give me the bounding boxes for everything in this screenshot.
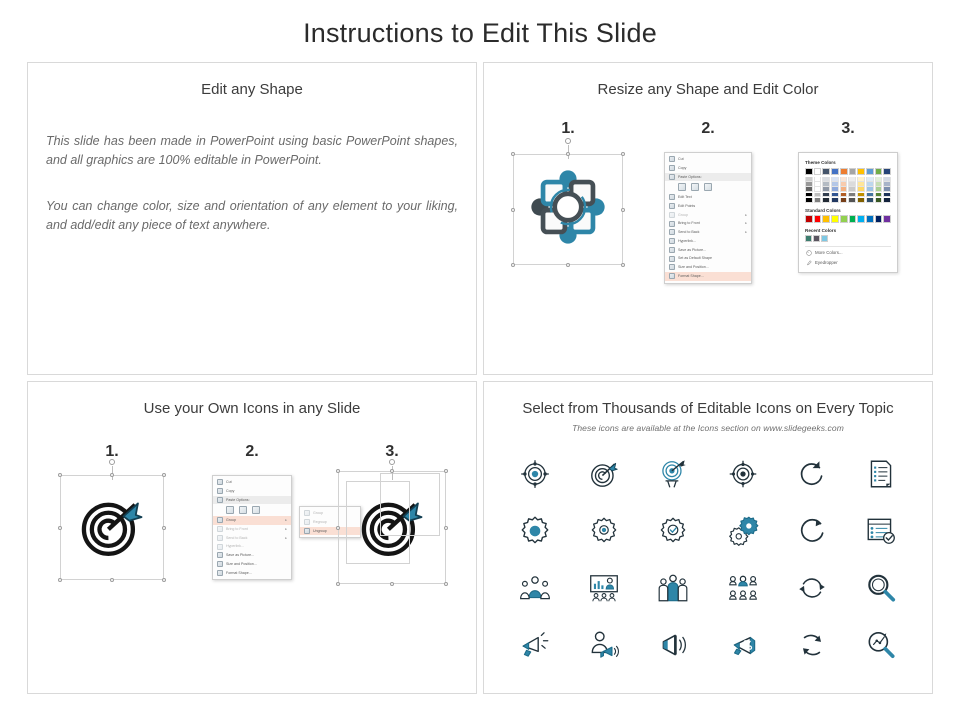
theme-swatch-8[interactable]	[875, 168, 883, 176]
menu-item-cut[interactable]: Cut	[665, 155, 751, 164]
menu-item-label: Hyperlink...	[678, 239, 696, 243]
theme-shade-9-3[interactable]	[883, 193, 891, 198]
theme-shade-col-6[interactable]	[857, 177, 865, 203]
handle-ml[interactable]	[511, 208, 515, 212]
theme-shade-1-3[interactable]	[814, 193, 822, 198]
grouped-target-icon[interactable]	[76, 489, 148, 566]
theme-shade-3-2[interactable]	[831, 187, 839, 192]
panel-title-icon-library: Select from Thousands of Editable Icons …	[484, 382, 932, 417]
handle-mr[interactable]	[621, 208, 625, 212]
standard-swatch-0[interactable]	[805, 215, 813, 223]
menu-item-icon	[217, 561, 223, 567]
theme-shade-1-1[interactable]	[814, 182, 822, 187]
theme-swatch-3[interactable]	[831, 168, 839, 176]
menu-item-hyperlink[interactable]: Hyperlink...	[665, 237, 751, 246]
theme-shade-col-0[interactable]	[805, 177, 813, 203]
theme-shade-7-1[interactable]	[866, 182, 874, 187]
team-structure-icon[interactable]	[710, 561, 775, 614]
menu-item-icon	[669, 273, 675, 279]
menu-item-icon	[217, 570, 223, 576]
menu-item-bring-to-front[interactable]: Bring to Front▸	[213, 525, 291, 534]
body-paragraph-1: This slide has been made in PowerPoint u…	[46, 132, 458, 171]
chevron-right-icon: ▸	[285, 536, 287, 540]
standard-swatch-5[interactable]	[849, 215, 857, 223]
document-check-icon[interactable]	[849, 504, 914, 557]
paste-text-only-icon[interactable]	[704, 183, 712, 191]
handle-br[interactable]	[621, 263, 625, 267]
theme-shade-1-2[interactable]	[814, 187, 822, 192]
menu-item-icon	[217, 488, 223, 494]
gear-check-icon[interactable]	[641, 504, 706, 557]
standard-colors-row[interactable]	[805, 215, 891, 223]
theme-swatch-0[interactable]	[805, 168, 813, 176]
paste-keep-formatting-icon[interactable]	[678, 183, 686, 191]
menu-item-icon	[669, 174, 675, 180]
rotate-handle-ungrouped[interactable]	[389, 459, 395, 465]
menu-item-set-as-default-shape[interactable]: Set as Default Shape	[665, 254, 751, 263]
menu-item-save-as-picture[interactable]: Save as Picture...	[665, 246, 751, 255]
menu-item-icon	[669, 256, 675, 262]
menu-item-icon	[669, 264, 675, 270]
standard-swatch-8[interactable]	[875, 215, 883, 223]
eyedropper-item[interactable]: Eyedropper	[805, 258, 891, 268]
menu-item-label: Ungroup	[313, 529, 327, 533]
page-title: Instructions to Edit This Slide	[0, 0, 960, 49]
handle-bm[interactable]	[566, 263, 570, 267]
selected-shape-icon[interactable]	[529, 168, 607, 251]
megaphone-percent-icon[interactable]	[710, 618, 775, 671]
refresh-arrow-icon[interactable]	[779, 447, 844, 500]
resize-step-1: 1.	[503, 120, 633, 302]
context-menu[interactable]: CutCopyPaste Options:Edit TextEdit Point…	[664, 152, 752, 284]
theme-shade-6-1[interactable]	[857, 182, 865, 187]
menu-item-size-and-position[interactable]: Size and Position...	[665, 263, 751, 272]
chevron-right-icon: ▸	[285, 527, 287, 531]
menu-item-bring-to-front[interactable]: Bring to Front▸	[665, 219, 751, 228]
panel-title-resize-shape: Resize any Shape and Edit Color	[484, 63, 932, 98]
resize-step-2: 2. CutCopyPaste Options:Edit TextEdit Po…	[643, 120, 773, 302]
menu-item-label: Regroup	[313, 520, 327, 524]
theme-shade-col-5[interactable]	[848, 177, 856, 203]
standard-swatch-2[interactable]	[822, 215, 830, 223]
own-step-art-3	[327, 475, 457, 625]
handle-g-bm[interactable]	[110, 578, 114, 582]
edit-shape-body: This slide has been made in PowerPoint u…	[28, 98, 476, 236]
handle-u-mr[interactable]	[444, 526, 448, 530]
handle-g-tr[interactable]	[162, 473, 166, 477]
theme-shade-2-2[interactable]	[822, 187, 830, 192]
paste-picture-icon[interactable]	[691, 183, 699, 191]
theme-shade-4-0[interactable]	[840, 177, 848, 182]
theme-shade-col-7[interactable]	[866, 177, 874, 203]
person-megaphone-icon[interactable]	[571, 618, 636, 671]
theme-shade-5-2[interactable]	[848, 187, 856, 192]
theme-shade-7-4[interactable]	[866, 198, 874, 203]
theme-shade-2-4[interactable]	[822, 198, 830, 203]
panel-resize-shape: Resize any Shape and Edit Color 1.	[483, 62, 933, 375]
menu-item-icon	[669, 238, 675, 244]
panel-grid: Edit any Shape This slide has been made …	[27, 62, 933, 690]
theme-swatch-5[interactable]	[849, 168, 857, 176]
menu-item-save-as-picture[interactable]: Save as Picture...	[213, 551, 291, 560]
theme-shade-2-3[interactable]	[822, 193, 830, 198]
resize-steps: 1.	[484, 98, 932, 302]
speaker-announce-icon[interactable]	[641, 618, 706, 671]
selection-box-part-b	[380, 473, 440, 536]
theme-shade-7-2[interactable]	[866, 187, 874, 192]
theme-shade-3-0[interactable]	[831, 177, 839, 182]
double-gear-icon[interactable]	[710, 504, 775, 557]
own-icons-step-2: 2. CutCopyPaste Options:Group▸Bring to F…	[187, 443, 317, 625]
menu-item-label: Save as Picture...	[226, 553, 254, 557]
panel-edit-any-shape: Edit any Shape This slide has been made …	[27, 62, 477, 375]
theme-shade-1-0[interactable]	[814, 177, 822, 182]
color-picker-divider	[805, 246, 891, 247]
people-group-icon[interactable]	[502, 561, 567, 614]
theme-shade-0-1[interactable]	[805, 182, 813, 187]
menu-item-label: Size and Position...	[226, 562, 257, 566]
standard-swatch-4[interactable]	[840, 215, 848, 223]
handle-u-br[interactable]	[444, 582, 448, 586]
theme-shade-2-1[interactable]	[822, 182, 830, 187]
circular-arrow-icon[interactable]	[779, 504, 844, 557]
theme-shade-9-0[interactable]	[883, 177, 891, 182]
menu-item-icon	[304, 519, 310, 525]
theme-colors-row[interactable]	[805, 168, 891, 176]
theme-shade-4-1[interactable]	[840, 182, 848, 187]
more-colors-item[interactable]: More Colors...	[805, 248, 891, 258]
panel-icon-library: Select from Thousands of Editable Icons …	[483, 381, 933, 694]
theme-shade-col-8[interactable]	[875, 177, 883, 203]
theme-shade-7-0[interactable]	[866, 177, 874, 182]
theme-shade-6-2[interactable]	[857, 187, 865, 192]
handle-u-tl[interactable]	[336, 469, 340, 473]
standard-swatch-9[interactable]	[883, 215, 891, 223]
menu-item-edit-points[interactable]: Edit Points	[665, 202, 751, 211]
theme-shade-0-0[interactable]	[805, 177, 813, 182]
handle-tm[interactable]	[566, 152, 570, 156]
theme-shade-0-4[interactable]	[805, 198, 813, 203]
team-three-icon[interactable]	[641, 561, 706, 614]
slide-root: Instructions to Edit This Slide Edit any…	[0, 0, 960, 720]
handle-tr[interactable]	[621, 152, 625, 156]
menu-item-icon	[217, 497, 223, 503]
theme-shade-9-4[interactable]	[883, 198, 891, 203]
theme-swatch-1[interactable]	[814, 168, 822, 176]
theme-shade-col-9[interactable]	[883, 177, 891, 203]
step-number-1: 1.	[503, 120, 633, 138]
menu-item-cut[interactable]: Cut	[213, 478, 291, 487]
step-art-3: Theme Colors Standard Colors Recent Colo…	[783, 152, 913, 302]
menu-item-format-shape[interactable]: Format Shape...	[213, 569, 291, 578]
standard-swatch-6[interactable]	[857, 215, 865, 223]
step-number-3: 3.	[783, 120, 913, 138]
theme-shade-8-1[interactable]	[875, 182, 883, 187]
gear-dot-icon[interactable]	[571, 504, 636, 557]
menu-item-label: Hyperlink...	[226, 544, 244, 548]
theme-swatch-7[interactable]	[866, 168, 874, 176]
group-context-menu[interactable]: CutCopyPaste Options:Group▸Bring to Fron…	[212, 475, 292, 580]
own-step-number-2: 2.	[187, 443, 317, 461]
handle-g-bl[interactable]	[58, 578, 62, 582]
paste-keep-formatting-icon[interactable]	[226, 506, 234, 514]
theme-shade-3-4[interactable]	[831, 198, 839, 203]
theme-shade-3-1[interactable]	[831, 182, 839, 187]
handle-bl[interactable]	[511, 263, 515, 267]
paste-option-icons[interactable]	[213, 504, 291, 516]
theme-shade-9-1[interactable]	[883, 182, 891, 187]
menu-item-label: Copy	[226, 489, 234, 493]
standard-colors-label: Standard Colors	[805, 208, 891, 213]
body-paragraph-2: You can change color, size and orientati…	[46, 197, 458, 236]
theme-shade-0-2[interactable]	[805, 187, 813, 192]
step-number-2: 2.	[643, 120, 773, 138]
theme-shade-6-0[interactable]	[857, 177, 865, 182]
own-step-art-1	[47, 475, 177, 625]
menu-item-group[interactable]: Group▸	[213, 516, 291, 525]
ungrouped-target-icon[interactable]	[356, 489, 428, 566]
theme-shade-col-1[interactable]	[814, 177, 822, 203]
menu-item-label: Bring to Front	[226, 527, 248, 531]
theme-shade-5-1[interactable]	[848, 182, 856, 187]
more-colors-label: More Colors...	[815, 250, 843, 255]
theme-shade-6-4[interactable]	[857, 198, 865, 203]
chevron-right-icon: ▸	[745, 213, 747, 217]
menu-item-icon	[669, 165, 675, 171]
theme-shade-2-0[interactable]	[822, 177, 830, 182]
menu-item-icon	[304, 510, 310, 516]
target-stand-icon[interactable]	[641, 447, 706, 500]
recent-swatch-0[interactable]	[805, 235, 812, 242]
theme-shade-1-4[interactable]	[814, 198, 822, 203]
handle-g-tm[interactable]	[110, 473, 114, 477]
menu-item-label: Paste Options:	[678, 175, 702, 179]
menu-item-icon	[669, 194, 675, 200]
crosshair-target-icon[interactable]	[502, 447, 567, 500]
menu-item-icon	[669, 221, 675, 227]
paste-picture-icon[interactable]	[239, 506, 247, 514]
handle-g-mr[interactable]	[162, 526, 166, 530]
theme-shades-grid[interactable]	[805, 177, 891, 203]
menu-item-label: Send to Back	[678, 230, 699, 234]
standard-swatch-1[interactable]	[814, 215, 822, 223]
menu-item-label: Format Shape...	[226, 571, 252, 575]
standard-swatch-7[interactable]	[866, 215, 874, 223]
resize-step-3: 3. Theme Colors Standard Colors Recent C…	[783, 120, 913, 302]
theme-shade-8-2[interactable]	[875, 187, 883, 192]
dartboard-arrow-icon[interactable]	[571, 447, 636, 500]
recent-swatch-1[interactable]	[813, 235, 820, 242]
menu-item-paste-options[interactable]: Paste Options:	[213, 496, 291, 505]
menu-item-label: Size and Position...	[678, 265, 709, 269]
theme-shade-9-2[interactable]	[883, 187, 891, 192]
handle-g-tl[interactable]	[58, 473, 62, 477]
gear-filled-icon[interactable]	[502, 504, 567, 557]
menu-item-label: Send to Back	[226, 536, 247, 540]
recent-colors-row[interactable]	[805, 235, 891, 242]
handle-tl[interactable]	[511, 152, 515, 156]
menu-item-label: Cut	[678, 157, 684, 161]
menu-item-paste-options[interactable]: Paste Options:	[665, 173, 751, 182]
chevron-right-icon: ▸	[745, 230, 747, 234]
theme-shade-col-3[interactable]	[831, 177, 839, 203]
menu-item-label: Group	[313, 511, 323, 515]
theme-swatch-4[interactable]	[840, 168, 848, 176]
step-art-1	[503, 152, 633, 302]
theme-shade-8-4[interactable]	[875, 198, 883, 203]
handle-u-tr[interactable]	[444, 469, 448, 473]
chevron-right-icon: ▸	[285, 518, 287, 522]
theme-swatch-6[interactable]	[857, 168, 865, 176]
theme-shade-0-3[interactable]	[805, 193, 813, 198]
own-icons-steps: 1.	[28, 417, 476, 625]
theme-swatch-2[interactable]	[822, 168, 830, 176]
step-art-2: CutCopyPaste Options:Edit TextEdit Point…	[643, 152, 773, 302]
megaphone-icon[interactable]	[502, 618, 567, 671]
menu-item-icon	[669, 229, 675, 235]
rotate-handle[interactable]	[565, 138, 571, 144]
paste-text-only-icon[interactable]	[252, 506, 260, 514]
menu-item-format-shape[interactable]: Format Shape...	[665, 272, 751, 281]
menu-item-icon	[217, 544, 223, 550]
panel-own-icons: Use your Own Icons in any Slide 1.	[27, 381, 477, 694]
menu-item-copy[interactable]: Copy	[665, 164, 751, 173]
chevron-right-icon: ▸	[745, 221, 747, 225]
crosshair-dark-icon[interactable]	[710, 447, 775, 500]
menu-item-label: Group	[678, 213, 688, 217]
menu-item-icon	[217, 535, 223, 541]
menu-item-group[interactable]: Group▸	[665, 210, 751, 219]
menu-item-icon	[217, 526, 223, 532]
menu-item-label: Save as Picture...	[678, 248, 706, 252]
theme-shade-5-0[interactable]	[848, 177, 856, 182]
palette-icon	[806, 250, 812, 256]
theme-colors-label: Theme Colors	[805, 160, 891, 165]
menu-item-edit-text[interactable]: Edit Text	[665, 193, 751, 202]
theme-shade-4-4[interactable]	[840, 198, 848, 203]
own-step-art-2: CutCopyPaste Options:Group▸Bring to Fron…	[187, 475, 317, 625]
menu-item-send-to-back[interactable]: Send to Back▸	[665, 228, 751, 237]
menu-item-icon	[217, 479, 223, 485]
theme-shade-col-2[interactable]	[822, 177, 830, 203]
theme-shade-col-4[interactable]	[840, 177, 848, 203]
rotate-handle-grouped[interactable]	[109, 459, 115, 465]
selection-box	[513, 154, 623, 265]
menu-item-label: Group	[226, 518, 236, 522]
theme-shade-6-3[interactable]	[857, 193, 865, 198]
menu-item-label: Cut	[226, 480, 232, 484]
panel-title-own-icons: Use your Own Icons in any Slide	[28, 382, 476, 417]
theme-shade-5-4[interactable]	[848, 198, 856, 203]
own-icons-step-1: 1.	[47, 443, 177, 625]
menu-item-label: Set as Default Shape	[678, 256, 712, 260]
eyedropper-label: Eyedropper	[815, 260, 838, 265]
theme-swatch-9[interactable]	[883, 168, 891, 176]
menu-item-label: Bring to Front	[678, 221, 700, 225]
presentation-meeting-icon[interactable]	[571, 561, 636, 614]
menu-item-copy[interactable]: Copy	[213, 487, 291, 496]
menu-item-label: Format Shape...	[678, 274, 704, 278]
menu-item-label: Copy	[678, 166, 686, 170]
menu-item-icon	[669, 247, 675, 253]
icon-grid	[484, 433, 932, 685]
menu-item-icon	[669, 203, 675, 209]
handle-g-ml[interactable]	[58, 526, 62, 530]
eyedropper-icon	[806, 260, 812, 266]
menu-item-size-and-position[interactable]: Size and Position...	[213, 560, 291, 569]
handle-u-bl[interactable]	[336, 582, 340, 586]
sync-arrows-icon[interactable]	[779, 561, 844, 614]
menu-item-label: Paste Options:	[226, 498, 250, 502]
menu-item-hyperlink[interactable]: Hyperlink...	[213, 542, 291, 551]
menu-item-icon	[217, 517, 223, 523]
circular-arrows-icon[interactable]	[779, 618, 844, 671]
menu-item-icon	[217, 552, 223, 558]
menu-item-icon	[304, 528, 310, 534]
menu-item-label: Edit Text	[678, 195, 692, 199]
theme-shade-8-3[interactable]	[875, 193, 883, 198]
menu-item-icon	[669, 156, 675, 162]
theme-shade-4-3[interactable]	[840, 193, 848, 198]
handle-g-br[interactable]	[162, 578, 166, 582]
menu-item-label: Edit Points	[678, 204, 695, 208]
recent-swatch-2[interactable]	[821, 235, 828, 242]
recent-colors-label: Recent Colors	[805, 228, 891, 233]
selection-box-grouped	[60, 475, 164, 580]
theme-shade-7-3[interactable]	[866, 193, 874, 198]
own-icons-step-3: 3.	[327, 443, 457, 625]
color-picker[interactable]: Theme Colors Standard Colors Recent Colo…	[798, 152, 898, 273]
menu-item-send-to-back[interactable]: Send to Back▸	[213, 533, 291, 542]
theme-shade-8-0[interactable]	[875, 177, 883, 182]
theme-shade-4-2[interactable]	[840, 187, 848, 192]
theme-shade-3-3[interactable]	[831, 193, 839, 198]
handle-u-ml[interactable]	[336, 526, 340, 530]
menu-item-icon	[669, 212, 675, 218]
panel-title-edit-shape: Edit any Shape	[28, 63, 476, 98]
magnifier-chart-icon[interactable]	[849, 618, 914, 671]
panel-subtitle-icon-library: These icons are available at the Icons s…	[484, 417, 932, 433]
magnifier-icon[interactable]	[849, 561, 914, 614]
standard-swatch-3[interactable]	[831, 215, 839, 223]
paste-option-icons[interactable]	[665, 181, 751, 193]
handle-u-tm[interactable]	[390, 469, 394, 473]
checklist-document-icon[interactable]	[849, 447, 914, 500]
theme-shade-5-3[interactable]	[848, 193, 856, 198]
handle-u-bm[interactable]	[390, 582, 394, 586]
